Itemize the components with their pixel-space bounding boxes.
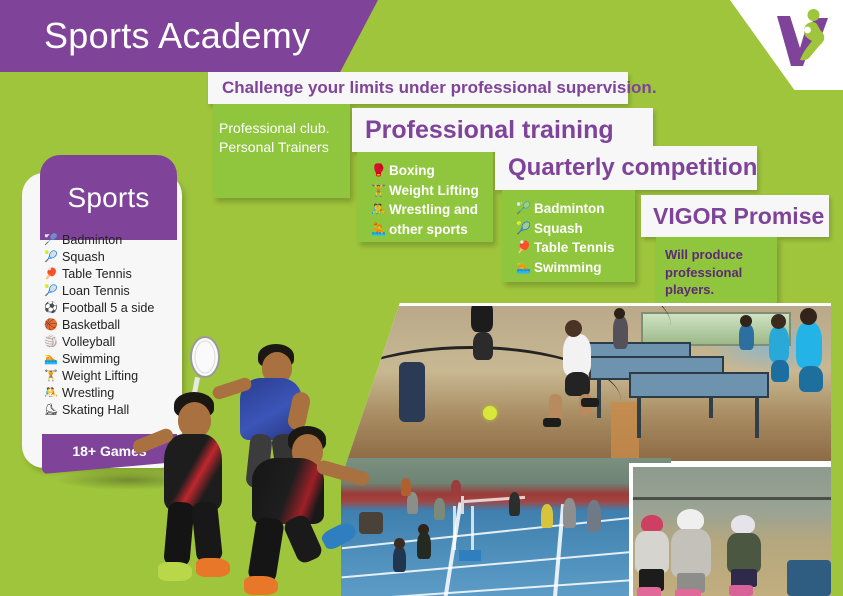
professional-club-card: Professional club. Personal Trainers bbox=[213, 104, 350, 198]
roller-skate bbox=[675, 589, 701, 596]
boxing-icon: 🥊 bbox=[371, 162, 385, 179]
sports-list-item: 🎾Squash bbox=[44, 249, 194, 266]
sports-list-item-label: Squash bbox=[62, 249, 105, 266]
player-shoe bbox=[581, 398, 599, 407]
court-player-head bbox=[418, 524, 429, 535]
photo-skating-kids bbox=[629, 463, 831, 596]
player-shoe bbox=[320, 519, 359, 552]
hanging-jacket bbox=[399, 362, 425, 422]
court-player-head bbox=[394, 538, 405, 549]
training-list-item: 🏋Weight Lifting bbox=[371, 181, 493, 201]
badminton-icon: 🏸 bbox=[516, 200, 530, 217]
training-list-item: 🥊Boxing bbox=[371, 161, 493, 181]
sports-list-item-label: Table Tennis bbox=[62, 266, 132, 283]
player-leg bbox=[247, 516, 285, 584]
quarterly-list-item-label: Table Tennis bbox=[534, 238, 615, 258]
training-list-item: 🤽other sports bbox=[371, 220, 493, 240]
net-post bbox=[461, 496, 464, 514]
quarterly-list-item-label: Squash bbox=[534, 219, 583, 239]
player-head bbox=[614, 308, 625, 319]
quarterly-list-item: 🏸Badminton bbox=[516, 199, 635, 219]
quarterly-list-item-label: Swimming bbox=[534, 258, 602, 278]
tagline-text: Challenge your limits under professional… bbox=[222, 78, 657, 98]
quarterly-list-item: 🏊Swimming bbox=[516, 258, 635, 278]
vigor-promise-title: VIGOR Promise bbox=[653, 203, 824, 230]
sports-list-item: ⚽Football 5 a side bbox=[44, 300, 194, 317]
helmet bbox=[731, 515, 755, 534]
kid-jacket bbox=[727, 533, 761, 573]
vigor-promise-card: Will produce professional players. bbox=[656, 237, 777, 305]
photo-collage bbox=[341, 303, 831, 596]
ball bbox=[483, 406, 497, 420]
table-tennis-icon: 🏓 bbox=[516, 239, 530, 256]
vigor-logo bbox=[773, 6, 835, 70]
training-list-item: 🤼Wrestling and bbox=[371, 200, 493, 220]
right-green-strip bbox=[831, 303, 843, 596]
sports-list-item-label: Weight Lifting bbox=[62, 368, 138, 385]
professional-club-body: Professional club. Personal Trainers bbox=[213, 104, 350, 157]
roller-skate bbox=[637, 587, 661, 596]
sports-list-item-label: Skating Hall bbox=[62, 402, 129, 419]
sports-list-item-label: Wrestling bbox=[62, 385, 114, 402]
court-player bbox=[541, 504, 553, 528]
vigor-promise-body: Will produce professional players. bbox=[656, 237, 777, 299]
player-head bbox=[800, 308, 817, 325]
professional-training-title: Professional training bbox=[365, 116, 614, 145]
weight-lifting-icon: 🏋 bbox=[371, 182, 385, 199]
player-shoe bbox=[244, 576, 278, 595]
kid-jacket bbox=[635, 531, 669, 573]
sports-list-item: 🏓Table Tennis bbox=[44, 266, 194, 283]
sports-panel-tab-label: Sports bbox=[67, 182, 149, 214]
player-shoe bbox=[158, 562, 192, 581]
quarterly-competition-title: Quarterly competition bbox=[508, 154, 757, 182]
court-line bbox=[341, 576, 670, 596]
quarterly-competition-card: 🏸Badminton🎾Squash🏓Table Tennis🏊Swimming bbox=[502, 190, 635, 282]
court-line bbox=[342, 513, 670, 549]
sports-list-item: 🎾Loan Tennis bbox=[44, 283, 194, 300]
player-head bbox=[740, 315, 752, 327]
court-player bbox=[393, 546, 406, 572]
roller-skate bbox=[729, 585, 753, 596]
weight-lifting-icon: 🏋 bbox=[44, 368, 58, 385]
squash-icon: 🎾 bbox=[516, 220, 530, 237]
player-shoe bbox=[196, 558, 230, 577]
net-post bbox=[453, 506, 456, 550]
floor-stripe bbox=[611, 402, 639, 461]
player-shorts bbox=[799, 366, 823, 392]
training-list-item-label: Boxing bbox=[389, 161, 435, 181]
player-shirt bbox=[471, 306, 493, 332]
skating-icon: ⛸ bbox=[44, 402, 58, 419]
vigor-promise-banner: VIGOR Promise bbox=[641, 195, 829, 237]
sports-list-item-label: Badminton bbox=[62, 232, 122, 249]
player-leg bbox=[163, 501, 194, 567]
player-shorts bbox=[771, 360, 789, 382]
table-leg bbox=[755, 396, 759, 438]
player-shirt bbox=[739, 324, 754, 350]
page-title: Sports Academy bbox=[44, 15, 310, 57]
hall-rail bbox=[633, 497, 831, 500]
table-leg bbox=[637, 396, 641, 438]
wrestling-icon: 🤼 bbox=[44, 385, 58, 402]
court-player bbox=[509, 492, 520, 516]
player-head bbox=[178, 402, 211, 438]
player-shoe bbox=[543, 418, 561, 427]
player-head bbox=[771, 314, 786, 329]
table-tennis-table bbox=[629, 372, 769, 398]
loan-tennis-icon: 🎾 bbox=[44, 283, 58, 300]
player-jersey bbox=[164, 434, 222, 510]
club-line-2: Personal Trainers bbox=[219, 138, 342, 157]
player-shirt bbox=[796, 322, 822, 368]
swimming-icon: 🏊 bbox=[44, 351, 58, 368]
table-tennis-icon: 🏓 bbox=[44, 266, 58, 283]
court-player bbox=[434, 498, 445, 520]
net-base bbox=[459, 550, 481, 561]
helmet bbox=[677, 509, 704, 531]
quarterly-competition-list: 🏸Badminton🎾Squash🏓Table Tennis🏊Swimming bbox=[502, 190, 635, 277]
quarterly-list-item: 🎾Squash bbox=[516, 219, 635, 239]
player-shirt bbox=[613, 316, 628, 349]
professional-training-list: 🥊Boxing🏋Weight Lifting🤼Wrestling and🤽oth… bbox=[357, 152, 493, 239]
training-list-item-label: other sports bbox=[389, 220, 468, 240]
sports-panel-tab: Sports bbox=[40, 155, 177, 240]
badminton-icon: 🏸 bbox=[44, 232, 58, 249]
professional-training-card: 🥊Boxing🏋Weight Lifting🤼Wrestling and🤽oth… bbox=[357, 152, 493, 242]
basketball-icon: 🏀 bbox=[44, 317, 58, 334]
sports-list-item-label: Swimming bbox=[62, 351, 120, 368]
blue-bin bbox=[787, 560, 831, 596]
sports-list-item-label: Basketball bbox=[62, 317, 120, 334]
sports-list-item: 🏸Badminton bbox=[44, 232, 194, 249]
header-banner: Sports Academy bbox=[0, 0, 378, 72]
volleyball-icon: 🏐 bbox=[44, 334, 58, 351]
player-jersey bbox=[252, 458, 324, 524]
court-line bbox=[342, 548, 671, 579]
player-leg bbox=[191, 501, 223, 563]
court-player bbox=[587, 500, 601, 532]
player-shorts bbox=[565, 372, 590, 396]
training-list-item-label: Wrestling and bbox=[389, 200, 478, 220]
swimming-icon: 🏊 bbox=[516, 259, 530, 276]
wrestling-icon: 🤼 bbox=[371, 201, 385, 218]
photo-badminton-courts bbox=[341, 458, 671, 596]
court-player bbox=[417, 532, 431, 559]
court-player bbox=[451, 480, 461, 496]
tagline-banner: Challenge your limits under professional… bbox=[208, 72, 628, 104]
club-line-1: Professional club. bbox=[219, 119, 342, 138]
player-head bbox=[565, 320, 582, 337]
squash-icon: 🎾 bbox=[44, 249, 58, 266]
sports-list-item-label: Volleyball bbox=[62, 334, 115, 351]
quarterly-competition-banner: Quarterly competition bbox=[495, 146, 757, 190]
sports-list-item-label: Loan Tennis bbox=[62, 283, 130, 300]
player-shirt bbox=[563, 334, 591, 376]
net-post bbox=[471, 506, 474, 552]
football-icon: ⚽ bbox=[44, 300, 58, 317]
other-sports-icon: 🤽 bbox=[371, 221, 385, 238]
poster-root: Sports Academy Challenge your limits und… bbox=[0, 0, 843, 596]
court-player bbox=[563, 498, 576, 528]
court-player bbox=[401, 478, 411, 496]
badminton-players-cutout bbox=[140, 330, 375, 596]
photo-table-tennis-hall bbox=[341, 306, 831, 461]
kid-jacket bbox=[671, 529, 711, 577]
training-list-item-label: Weight Lifting bbox=[389, 181, 479, 201]
player-shorts bbox=[473, 332, 493, 360]
player-shirt bbox=[769, 326, 789, 362]
quarterly-list-item-label: Badminton bbox=[534, 199, 605, 219]
quarterly-list-item: 🏓Table Tennis bbox=[516, 238, 635, 258]
sports-list-item-label: Football 5 a side bbox=[62, 300, 154, 317]
